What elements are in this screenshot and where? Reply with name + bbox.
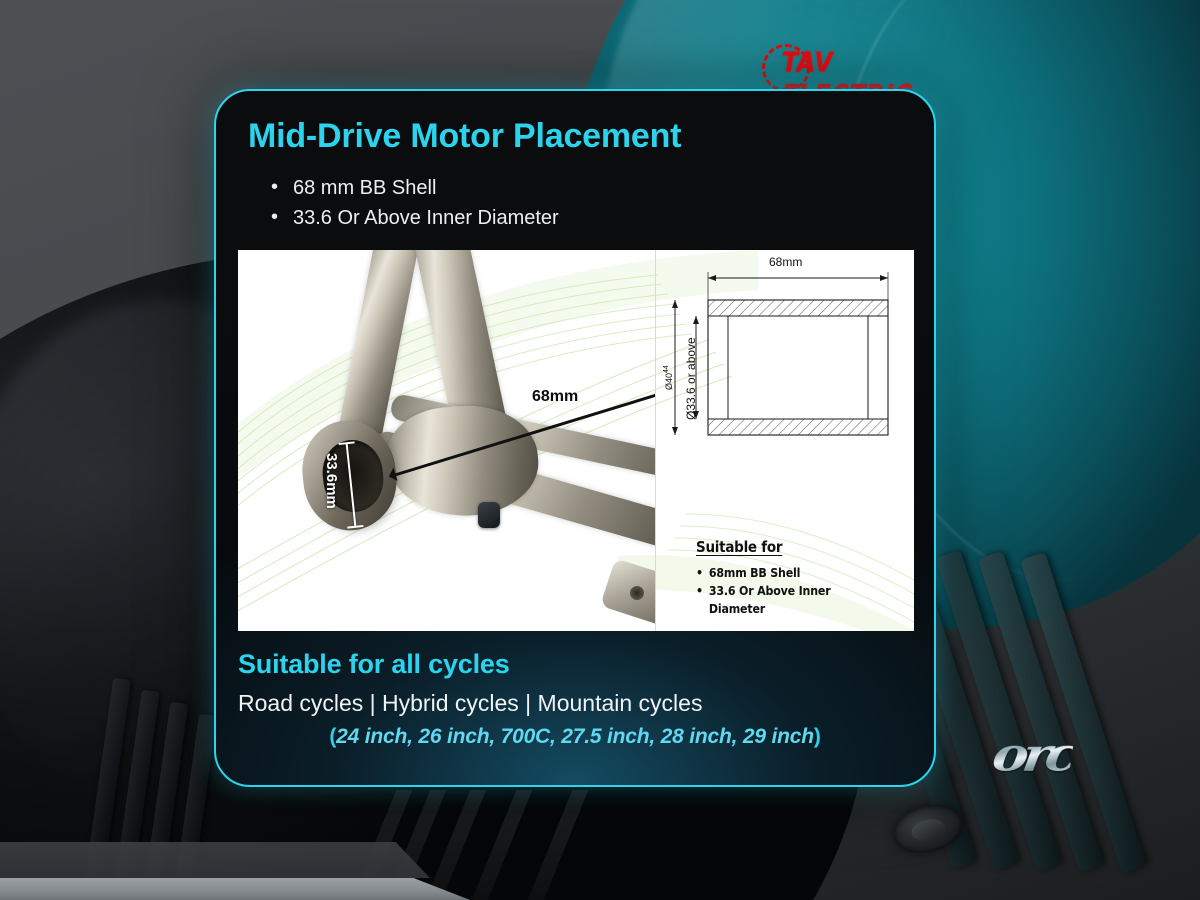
background-band-light [0, 878, 470, 900]
spec-bullet-list: 68 mm BB Shell 33.6 Or Above Inner Diame… [271, 173, 559, 233]
card-footer: Suitable for all cycles Road cycles | Hy… [216, 649, 934, 749]
suitable-for-list: 68mm BB Shell 33.6 Or Above Inner Diamet… [696, 564, 906, 618]
page-title: Mid-Drive Motor Placement [248, 117, 681, 156]
cad-outer-diameter-sup: 44 [663, 365, 670, 373]
watermark-text: orc [989, 726, 1076, 781]
sizes-close-paren: ) [814, 725, 821, 748]
cad-width-label: 68mm [769, 255, 802, 269]
logo-text-tav: TAV [782, 46, 833, 78]
list-item: 68mm BB Shell [696, 564, 889, 582]
list-item: 33.6 Or Above Inner Diameter [271, 203, 559, 233]
cad-outer-diameter-label: Ø4044 [663, 365, 674, 390]
list-item: 68 mm BB Shell [271, 173, 559, 203]
footer-heading: Suitable for all cycles [238, 649, 934, 680]
slide-canvas: TAV ELECTRIC Mid-Drive Motor Placement 6… [0, 0, 1200, 900]
chrome-watermark: orc [993, 722, 1133, 788]
diameter-dimension-label: 33.6mm [323, 453, 340, 509]
sizes-value: 24 inch, 26 inch, 700C, 27.5 inch, 28 in… [336, 725, 814, 748]
dropout-hole [630, 586, 644, 600]
background-band-dark [0, 842, 430, 878]
list-item: 33.6 Or Above Inner Diameter [696, 582, 889, 618]
width-dimension-label: 68mm [532, 388, 578, 406]
main-card: Mid-Drive Motor Placement 68 mm BB Shell… [214, 89, 936, 787]
frame-bolt [478, 502, 500, 528]
suitable-for-heading: Suitable for [696, 538, 885, 556]
tav-electric-logo: TAV ELECTRIC [762, 42, 968, 94]
footer-sizes: (24 inch, 26 inch, 700C, 27.5 inch, 28 i… [216, 725, 934, 749]
illustration-panel: 33.6mm 68mm [238, 250, 914, 631]
footer-cycle-types: Road cycles | Hybrid cycles | Mountain c… [238, 690, 934, 717]
frame-dropout [600, 558, 655, 628]
bicycle-frame-photo: 33.6mm 68mm [238, 250, 655, 631]
cad-inner-diameter-label: Ø33.6 or above [684, 337, 698, 420]
cad-outer-diameter-value: Ø40 [664, 373, 674, 390]
suitable-for-box: Suitable for 68mm BB Shell 33.6 Or Above… [696, 538, 906, 618]
motor-slats [344, 790, 917, 900]
